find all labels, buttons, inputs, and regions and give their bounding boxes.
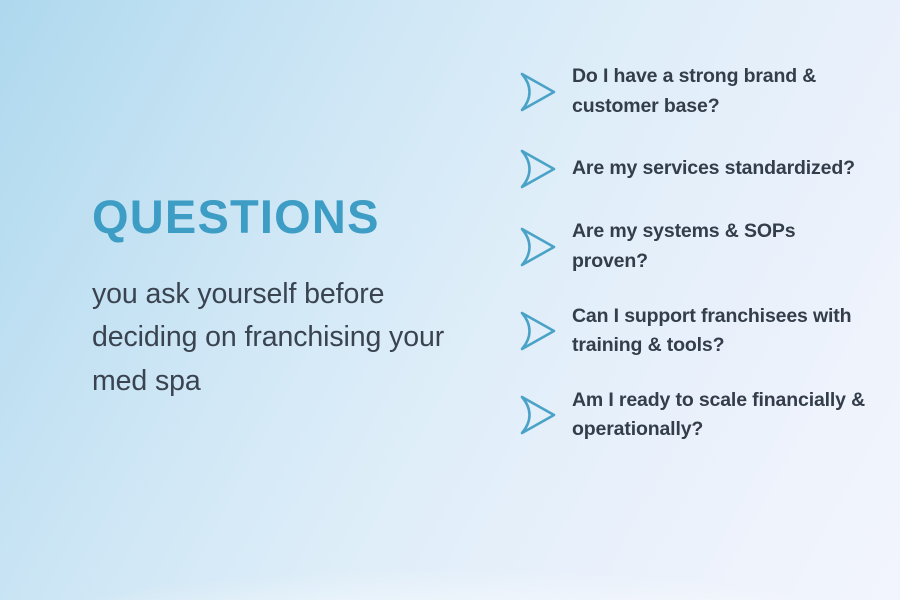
- bottom-arc-decoration: [0, 566, 900, 600]
- page-subtitle: you ask yourself before deciding on fran…: [92, 273, 452, 403]
- headline-block: QUESTIONS you ask yourself before decidi…: [92, 193, 452, 403]
- arrowhead-icon: [516, 69, 572, 115]
- list-item: Are my services standardized?: [516, 146, 876, 192]
- list-item: Are my systems & SOPs proven?: [516, 217, 876, 276]
- list-item-label: Can I support franchisees with training …: [572, 302, 876, 361]
- list-item-label: Do I have a strong brand & customer base…: [572, 62, 876, 121]
- checklist: Do I have a strong brand & customer base…: [516, 62, 876, 445]
- arrowhead-icon: [516, 392, 572, 438]
- list-item-label: Are my systems & SOPs proven?: [572, 217, 876, 276]
- arrowhead-icon: [516, 224, 572, 270]
- list-item: Am I ready to scale financially & operat…: [516, 386, 876, 445]
- arrowhead-icon: [516, 308, 572, 354]
- list-item-label: Am I ready to scale financially & operat…: [572, 386, 876, 445]
- list-item-label: Are my services standardized?: [572, 154, 855, 184]
- list-item: Do I have a strong brand & customer base…: [516, 62, 876, 121]
- slide-canvas: QUESTIONS you ask yourself before decidi…: [0, 0, 900, 600]
- arrowhead-icon: [516, 146, 572, 192]
- list-item: Can I support franchisees with training …: [516, 302, 876, 361]
- page-title: QUESTIONS: [92, 193, 452, 240]
